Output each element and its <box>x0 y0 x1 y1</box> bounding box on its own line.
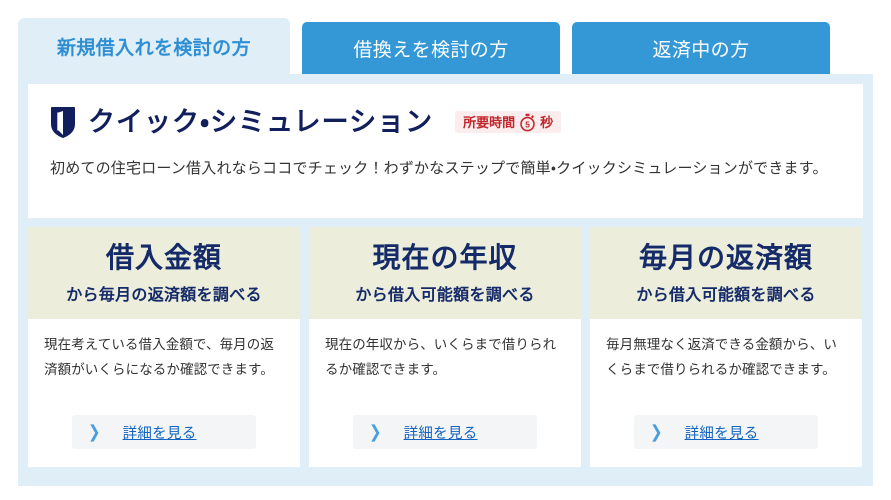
tab-refinance-label: 借換えを検討の方 <box>353 35 508 62</box>
detail-button[interactable]: ❯ 詳細を見る <box>353 415 537 449</box>
quick-simulation-screen: 新規借入れを検討の方 借換えを検討の方 返済中の方 クイック・シミュレーション … <box>0 0 891 500</box>
card-monthly-repayment[interactable]: 毎月の返済額 から借入可能額を調べる 毎月無理なく返済できる金額から、いくらまで… <box>590 227 862 467</box>
card-body-text: 現在の年収から、いくらまで借りられるか確認できます。 <box>309 319 581 409</box>
card-title: 借入金額 <box>38 243 290 274</box>
badge-prefix-label: 所要時間 <box>463 116 515 129</box>
card-subtitle: から毎月の返済額を調べる <box>38 281 290 305</box>
required-time-badge: 所要時間 5 秒 <box>455 111 561 133</box>
intro-card: クイック・シミュレーション 所要時間 5 秒 初めての住宅ローン借入れならココで… <box>28 84 863 218</box>
detail-button-label: 詳細を見る <box>123 422 197 443</box>
tab-new-loan[interactable]: 新規借入れを検討の方 <box>18 18 290 74</box>
card-body-text: 現在考えている借入金額で、毎月の返済額がいくらになるか確認できます。 <box>28 319 300 409</box>
card-annual-income[interactable]: 現在の年収 から借入可能額を調べる 現在の年収から、いくらまで借りられるか確認で… <box>309 227 581 467</box>
tab-repaying[interactable]: 返済中の方 <box>572 22 830 74</box>
intro-title: クイック・シミュレーション <box>88 109 433 136</box>
shield-icon <box>50 106 76 138</box>
badge-number: 5 <box>525 119 530 129</box>
detail-button-label: 詳細を見る <box>404 422 478 443</box>
card-subtitle: から借入可能額を調べる <box>319 281 571 305</box>
tab-new-loan-label: 新規借入れを検討の方 <box>57 33 251 60</box>
tab-bar: 新規借入れを検討の方 借換えを検討の方 返済中の方 <box>18 18 873 74</box>
intro-description: 初めての住宅ローン借入れならココでチェック！わずかなステップで簡単・クイックシミ… <box>50 156 841 182</box>
card-title: 現在の年収 <box>319 243 571 274</box>
chevron-right-icon: ❯ <box>650 423 663 440</box>
card-subtitle: から借入可能額を調べる <box>600 281 852 305</box>
badge-suffix-label: 秒 <box>540 116 553 129</box>
card-footer: ❯ 詳細を見る <box>28 409 300 467</box>
card-footer: ❯ 詳細を見る <box>590 409 862 467</box>
card-header: 毎月の返済額 から借入可能額を調べる <box>590 227 862 319</box>
card-loan-amount[interactable]: 借入金額 から毎月の返済額を調べる 現在考えている借入金額で、毎月の返済額がいく… <box>28 227 300 467</box>
chevron-right-icon: ❯ <box>369 423 382 440</box>
tab-repaying-label: 返済中の方 <box>652 35 749 62</box>
tab-panel: クイック・シミュレーション 所要時間 5 秒 初めての住宅ローン借入れならココで… <box>18 74 873 486</box>
card-header: 現在の年収 から借入可能額を調べる <box>309 227 581 319</box>
stopwatch-icon: 5 <box>518 113 537 132</box>
simulation-cards: 借入金額 から毎月の返済額を調べる 現在考えている借入金額で、毎月の返済額がいく… <box>28 227 863 467</box>
card-header: 借入金額 から毎月の返済額を調べる <box>28 227 300 319</box>
detail-button[interactable]: ❯ 詳細を見る <box>72 415 256 449</box>
detail-button[interactable]: ❯ 詳細を見る <box>634 415 818 449</box>
card-footer: ❯ 詳細を見る <box>309 409 581 467</box>
detail-button-label: 詳細を見る <box>685 422 759 443</box>
card-body-text: 毎月無理なく返済できる金額から、いくらまで借りられるか確認できます。 <box>590 319 862 409</box>
chevron-right-icon: ❯ <box>88 423 101 440</box>
intro-header: クイック・シミュレーション 所要時間 5 秒 <box>50 102 841 142</box>
tab-refinance[interactable]: 借換えを検討の方 <box>302 22 560 74</box>
card-title: 毎月の返済額 <box>600 243 852 274</box>
